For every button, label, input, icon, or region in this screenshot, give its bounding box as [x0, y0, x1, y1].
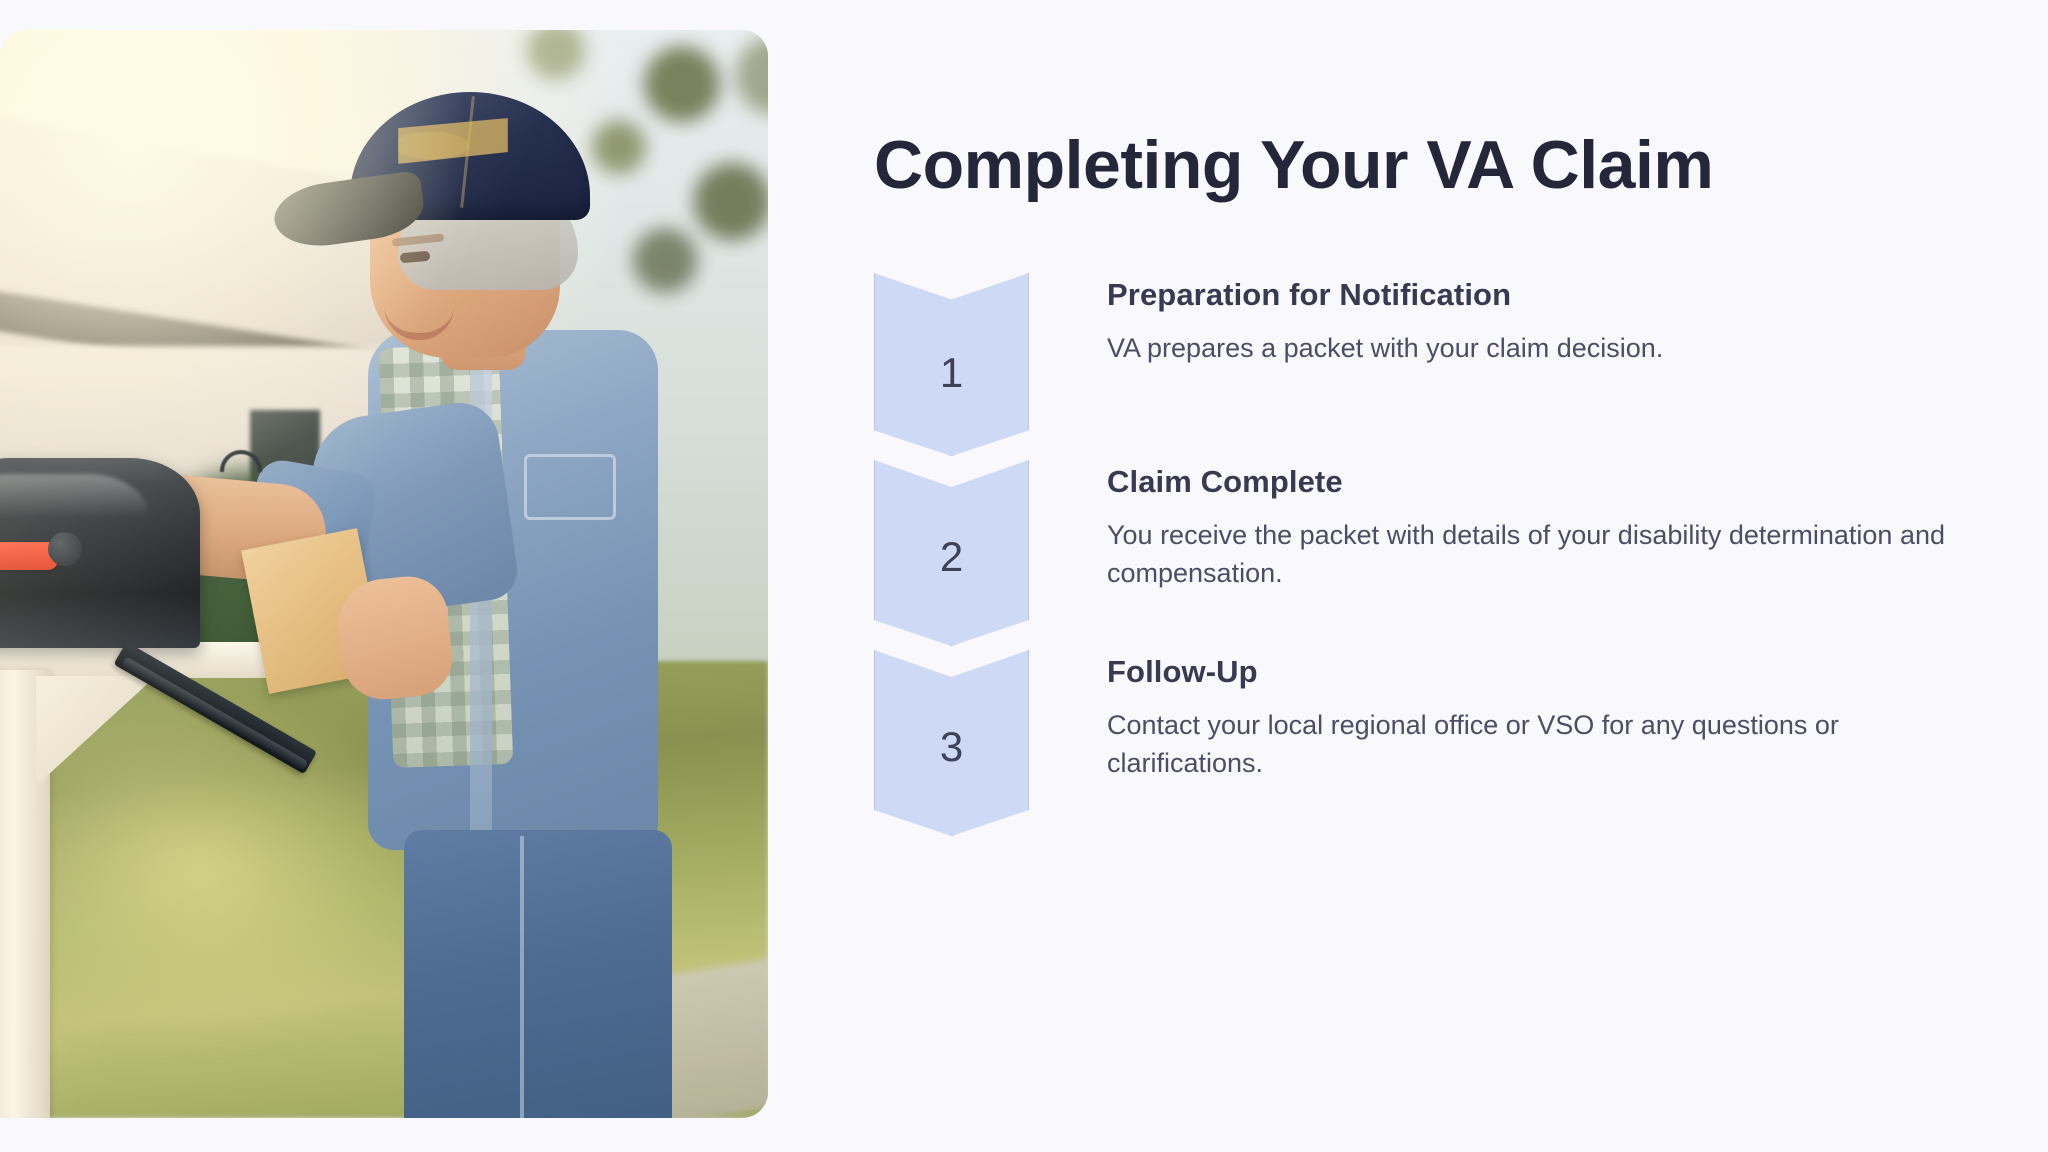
jacket-pocket-right: [524, 454, 616, 520]
hand-holding-envelope: [334, 573, 456, 704]
step-number-1: 1: [940, 352, 963, 394]
step-title-1: Preparation for Notification: [1107, 277, 1663, 313]
step-number-3: 3: [940, 726, 963, 768]
step-item-3: 3 Follow-Up Contact your local regional …: [874, 650, 1994, 836]
page-title: Completing Your VA Claim: [874, 126, 1713, 204]
step-chevron-3: 3: [874, 650, 1029, 836]
step-item-2: 2 Claim Complete You receive the packet …: [874, 460, 1994, 646]
content-panel: Completing Your VA Claim 1 Preparation f…: [874, 0, 2048, 1152]
step-number-2: 2: [940, 536, 963, 578]
step-description-3: Contact your local regional office or VS…: [1107, 706, 1994, 783]
step-title-2: Claim Complete: [1107, 464, 1994, 500]
step-text-3: Follow-Up Contact your local regional of…: [1029, 650, 1994, 783]
step-description-1: VA prepares a packet with your claim dec…: [1107, 329, 1663, 367]
mailbox-flag-knob: [48, 532, 82, 566]
step-chevron-2: 2: [874, 460, 1029, 646]
step-description-2: You receive the packet with details of y…: [1107, 516, 1994, 593]
step-chevron-1: 1: [874, 273, 1029, 456]
step-title-3: Follow-Up: [1107, 654, 1994, 690]
step-text-1: Preparation for Notification VA prepares…: [1029, 273, 1663, 367]
step-text-2: Claim Complete You receive the packet wi…: [1029, 460, 1994, 593]
steps-list: 1 Preparation for Notification VA prepar…: [874, 273, 1994, 836]
jeans: [404, 830, 672, 1118]
step-item-1: 1 Preparation for Notification VA prepar…: [874, 273, 1994, 456]
jeans-seam: [520, 836, 524, 1118]
photo-canvas: [0, 30, 768, 1118]
hero-photo: [0, 30, 768, 1118]
